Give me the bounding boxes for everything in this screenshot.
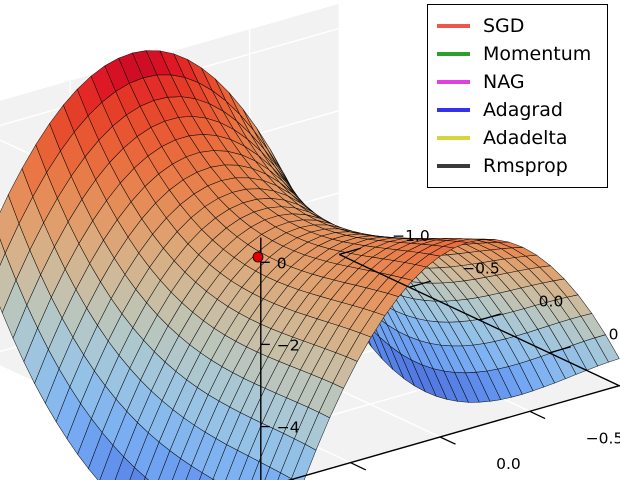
legend-label-rmsprop: Rmsprop [483,157,568,176]
legend-label-adagrad: Adagrad [483,101,563,120]
legend-item-rmsprop[interactable]: Rmsprop [437,152,598,180]
legend-item-nag[interactable]: NAG [437,68,598,96]
legend-item-sgd[interactable]: SGD [437,12,598,40]
legend-swatch-adagrad [437,108,470,112]
legend-swatch-momentum [437,52,470,56]
legend-swatch-nag [437,80,470,84]
legend-swatch-adadelta [437,136,470,140]
svg-text:0.5: 0.5 [609,325,620,343]
svg-text:−2: −2 [277,336,300,354]
legend-label-momentum: Momentum [483,45,591,64]
svg-text:−0.5: −0.5 [586,430,620,448]
figure-canvas: −1.0−0.50.00.51.0−1.0−0.50.00.51.00−2−4 … [0,0,620,480]
svg-text:−1.0: −1.0 [392,227,430,245]
legend-item-adagrad[interactable]: Adagrad [437,96,598,124]
legend-item-adadelta[interactable]: Adadelta [437,124,598,152]
legend-swatch-sgd [437,24,470,28]
legend-box[interactable]: SGD Momentum NAG Adagrad Adadelta Rmspro… [427,4,608,188]
legend-label-sgd: SGD [483,17,524,36]
svg-text:−0.5: −0.5 [462,260,500,278]
legend-item-momentum[interactable]: Momentum [437,40,598,68]
svg-text:0.0: 0.0 [496,455,521,473]
start-point-marker [253,252,263,262]
legend-label-nag: NAG [483,73,525,92]
svg-text:−4: −4 [277,419,300,437]
svg-text:0: 0 [277,254,287,272]
legend-label-adadelta: Adadelta [483,129,568,148]
svg-text:0.0: 0.0 [539,293,564,311]
legend-swatch-rmsprop [437,164,470,168]
